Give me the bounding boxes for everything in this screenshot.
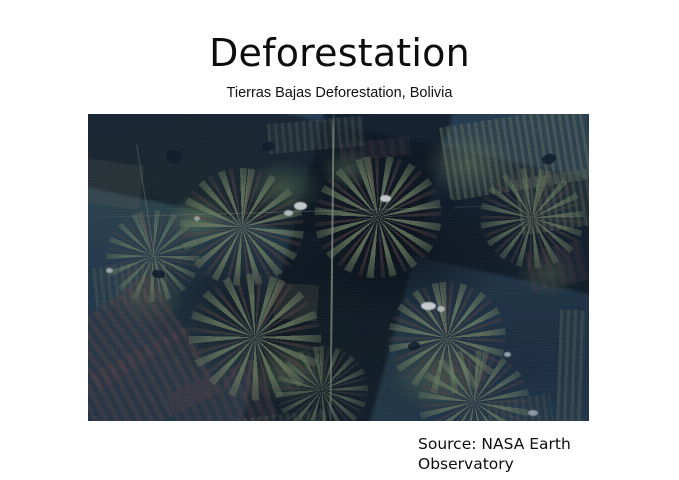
source-credit: Source: NASA Earth Observatory: [418, 435, 668, 475]
slide-canvas: Deforestation Tierras Bajas Deforestatio…: [0, 0, 679, 480]
page-subtitle: Tierras Bajas Deforestation, Bolivia: [0, 85, 679, 102]
satellite-image: [88, 114, 589, 421]
image-tone-wash-layer: [88, 114, 589, 421]
source-credit-line-2: Observatory: [418, 455, 668, 475]
source-credit-line-1: Source: NASA Earth: [418, 435, 668, 455]
page-title: Deforestation: [0, 34, 679, 74]
